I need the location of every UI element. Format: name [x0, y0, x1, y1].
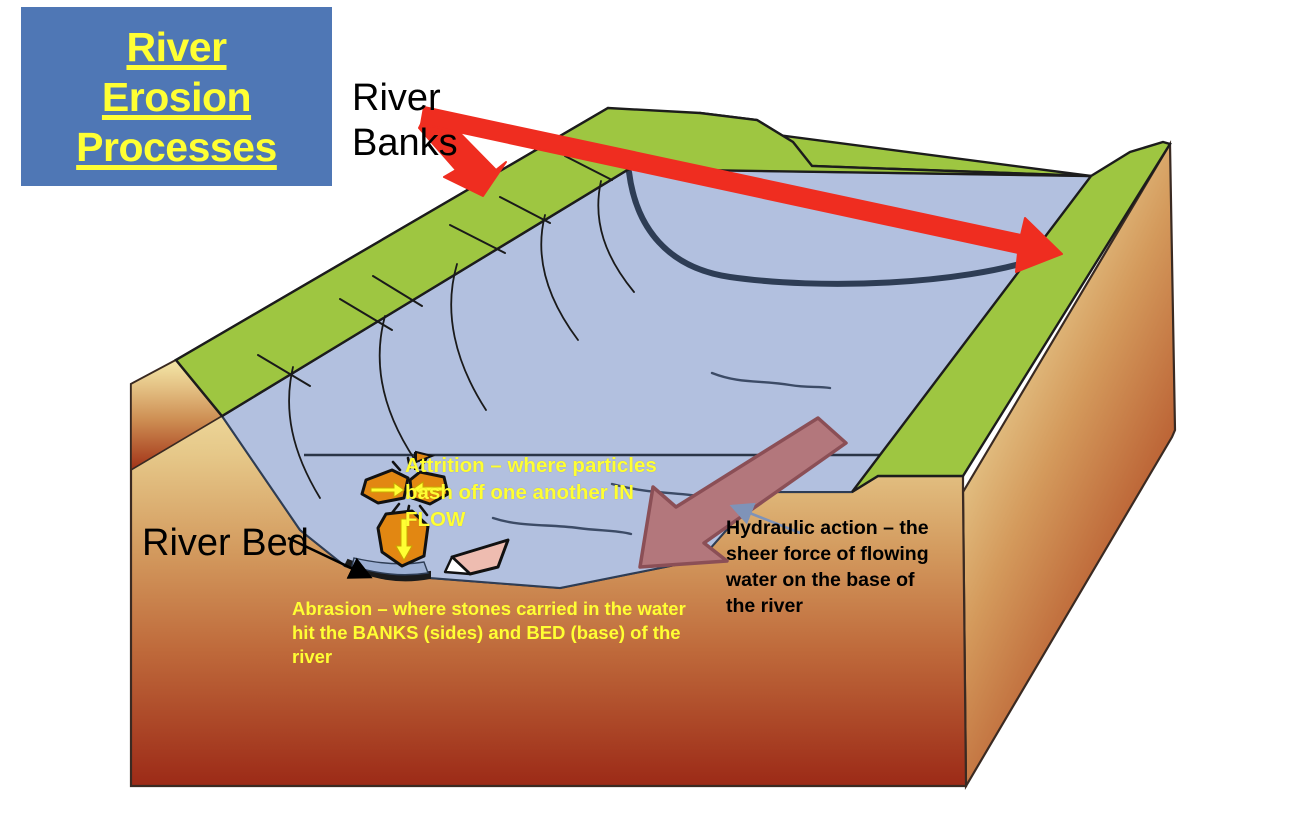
attrition-annotation: Attrition – where particles bash off one…	[405, 452, 695, 533]
title-line-2: Erosion	[102, 72, 251, 122]
river-bed-label: River Bed	[142, 521, 309, 566]
abrasion-annotation: Abrasion – where stones carried in the w…	[292, 597, 704, 669]
hydraulic-action-annotation: Hydraulic action – the sheer force of fl…	[726, 515, 944, 619]
title-panel: River Erosion Processes	[21, 7, 332, 186]
diagram-canvas: River Erosion Processes River Banks Rive…	[0, 0, 1310, 830]
river-banks-label: River Banks	[352, 76, 458, 166]
title-line-3: Processes	[76, 122, 277, 172]
title-line-1: River	[126, 22, 226, 72]
